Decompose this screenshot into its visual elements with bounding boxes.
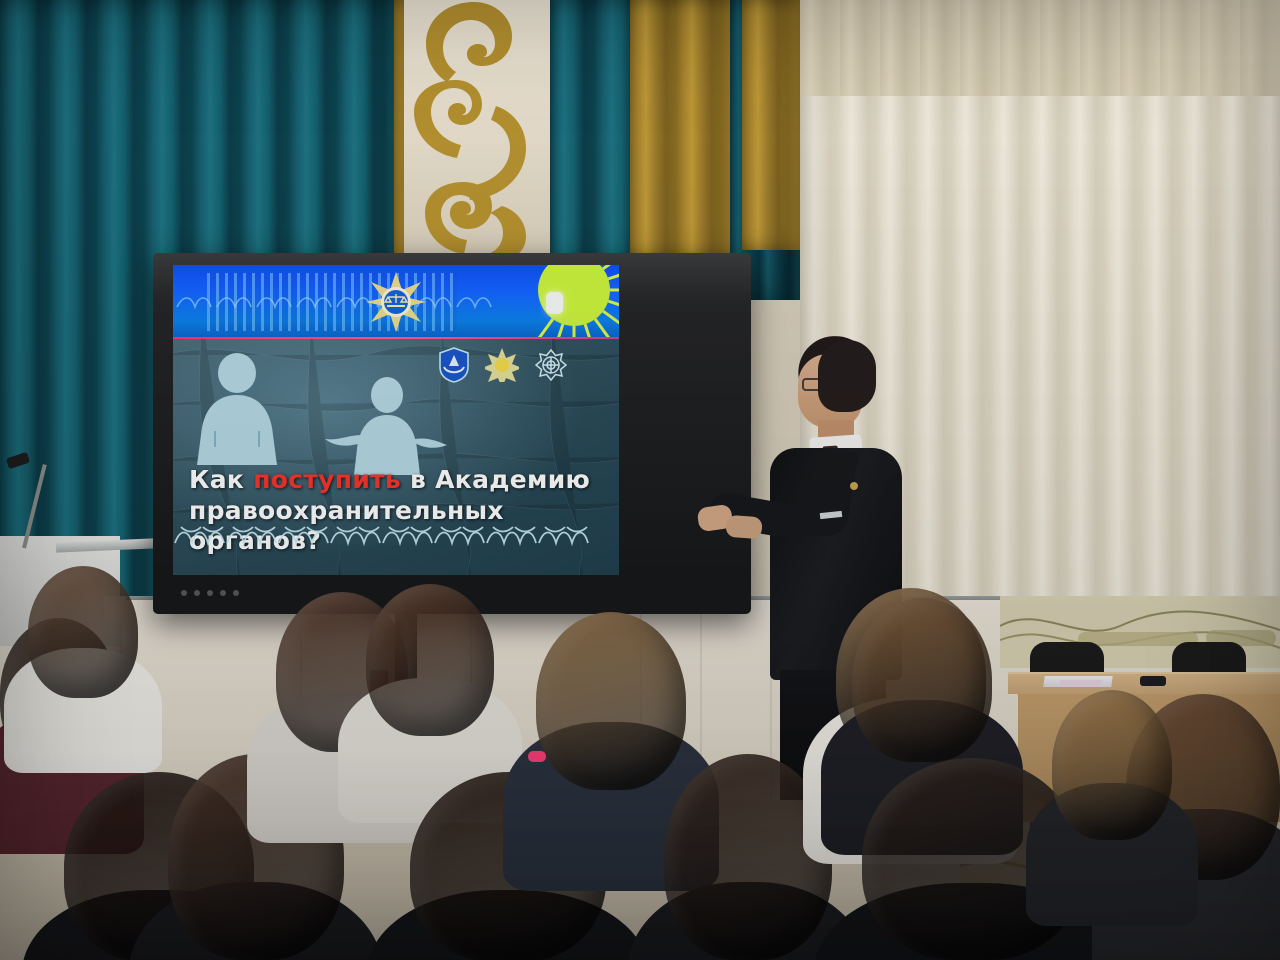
hair-tie-icon bbox=[528, 751, 546, 762]
slide-title-line-1: Как поступить в Академию bbox=[189, 465, 619, 496]
title-prefix: Как bbox=[189, 465, 253, 494]
header-ornament-icon bbox=[173, 285, 503, 315]
audience-member-head bbox=[852, 598, 992, 762]
gold-drape-3 bbox=[630, 0, 742, 262]
chair-2 bbox=[1172, 642, 1246, 676]
presenter-hand-right bbox=[725, 515, 762, 539]
bezel-button-menu[interactable] bbox=[194, 590, 200, 596]
chair-1 bbox=[1030, 642, 1104, 676]
presenter-hair bbox=[818, 340, 876, 412]
gold-star-emblem-icon bbox=[485, 348, 519, 382]
title-highlight: поступить bbox=[253, 465, 401, 494]
audience-member-head bbox=[366, 584, 494, 736]
kazakh-ornament-banner bbox=[404, 0, 550, 254]
bezel-button-source[interactable] bbox=[207, 590, 213, 596]
bezel-button-volume-down[interactable] bbox=[233, 590, 239, 596]
standing-person-silhouette-icon bbox=[195, 353, 279, 465]
mobile-phone bbox=[1140, 676, 1166, 686]
slide-footer-ornament-icon bbox=[173, 517, 619, 551]
display-bezel-buttons[interactable] bbox=[181, 590, 239, 596]
audience-member-head bbox=[1052, 690, 1172, 840]
octagon-star-outline-emblem-icon bbox=[535, 349, 567, 381]
audience-member-head bbox=[28, 566, 138, 698]
presentation-photo-scene: Как поступить в Академию правоохранитель… bbox=[0, 0, 1280, 960]
shrugging-person-silhouette-icon bbox=[325, 377, 447, 475]
bezel-button-power[interactable] bbox=[181, 590, 187, 596]
table-papers-2 bbox=[1060, 680, 1103, 687]
bezel-button-volume-up[interactable] bbox=[220, 590, 226, 596]
banner-motif-icon bbox=[404, 0, 550, 254]
display-power-led-icon bbox=[546, 292, 563, 314]
gold-drape-4 bbox=[742, 0, 804, 250]
scales-of-justice-emblem-icon bbox=[365, 271, 427, 333]
lapel-pin-icon bbox=[850, 482, 858, 490]
audience-member-head bbox=[536, 612, 686, 790]
title-suffix: в Академию bbox=[401, 465, 590, 494]
emblem-row bbox=[439, 347, 567, 383]
header-accent-rule bbox=[173, 337, 619, 339]
sun-with-rays-icon bbox=[511, 265, 619, 339]
academy-shield-emblem-icon bbox=[439, 347, 469, 383]
interactive-display-panel[interactable]: Как поступить в Академию правоохранитель… bbox=[153, 253, 751, 614]
